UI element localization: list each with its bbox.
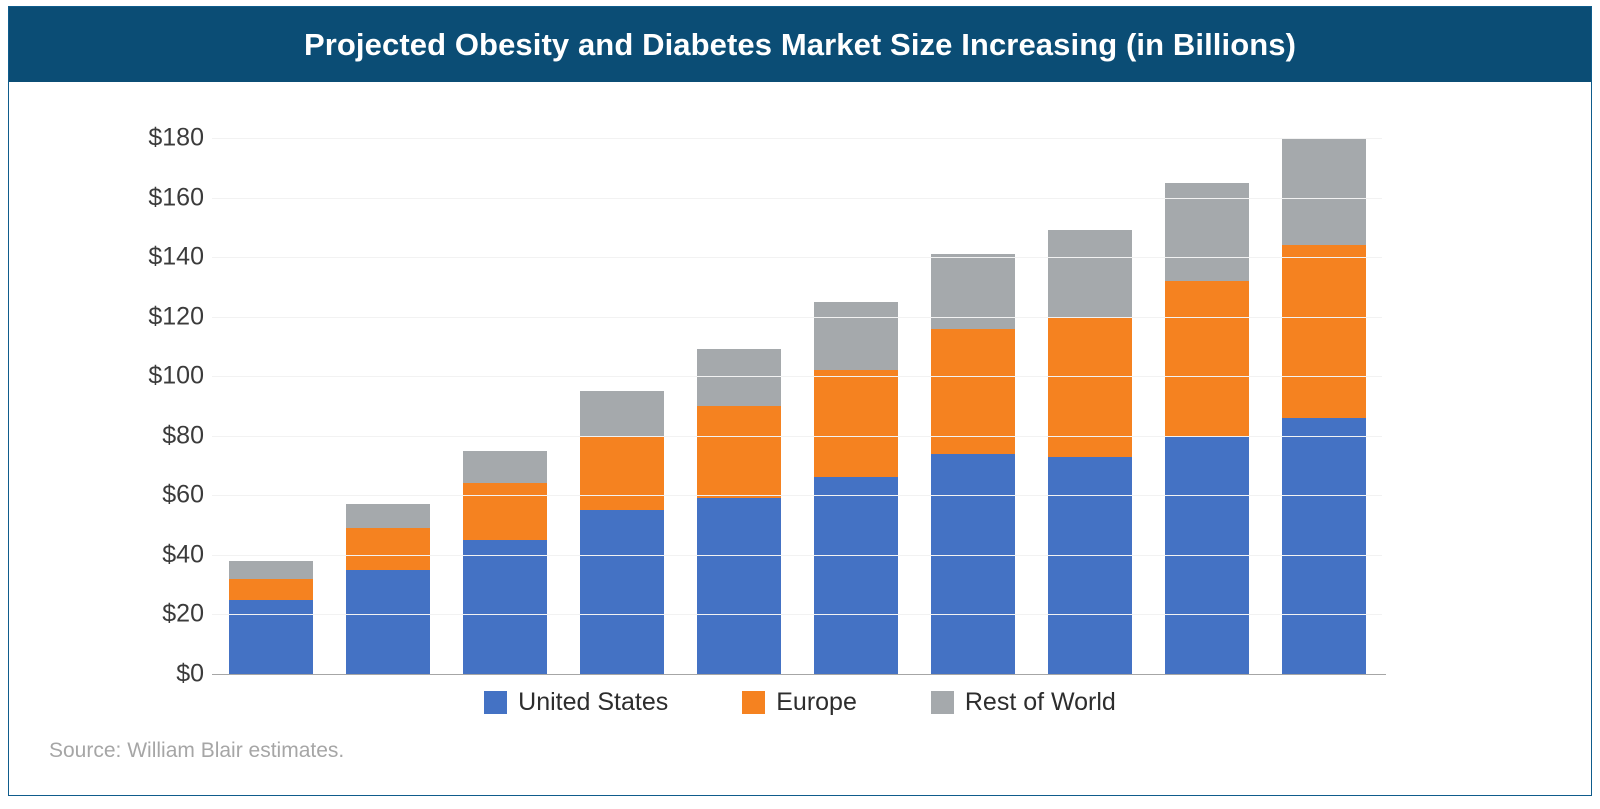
gridline [212,555,1382,556]
gridline [212,138,1382,139]
bar-segment-united-states[interactable] [697,498,781,674]
gridline [212,376,1382,377]
x-axis-line [212,674,1386,675]
legend-swatch-icon [484,691,507,714]
bar-segment-united-states[interactable] [814,477,898,674]
y-axis-tick-label: $120 [118,302,204,331]
y-axis-tick-labels: $180$160$140$120$100$80$60$40$20$0 [109,138,204,674]
y-axis-tick-label: $40 [118,540,204,569]
legend-swatch-icon [742,691,765,714]
page-title: Projected Obesity and Diabetes Market Si… [304,27,1296,63]
bar-segment-rest-of-world[interactable] [1048,230,1132,316]
bar-segment-europe[interactable] [697,406,781,498]
bar-segment-rest-of-world[interactable] [463,451,547,484]
legend-swatch-icon [931,691,954,714]
bar-segment-europe[interactable] [814,370,898,477]
bar-series-group [212,138,1382,674]
bar-column[interactable] [1165,138,1249,674]
bar-segment-europe[interactable] [580,436,664,510]
bar-segment-rest-of-world[interactable] [229,561,313,579]
legend-label: United States [518,688,668,717]
bar-segment-united-states[interactable] [580,510,664,674]
bar-column[interactable] [229,138,313,674]
legend-item[interactable]: Europe [742,688,857,717]
gridline [212,614,1382,615]
y-axis-tick-label: $0 [118,660,204,689]
legend-item[interactable]: Rest of World [931,688,1116,717]
bar-segment-europe[interactable] [229,579,313,600]
bar-segment-rest-of-world[interactable] [1282,138,1366,245]
y-axis-tick-label: $160 [118,183,204,212]
bar-column[interactable] [580,138,664,674]
legend-label: Rest of World [965,688,1116,717]
gridline [212,436,1382,437]
bar-column[interactable] [931,138,1015,674]
gridline [212,257,1382,258]
y-axis-tick-label: $140 [118,243,204,272]
chart-body: $180$160$140$120$100$80$60$40$20$0 Unite… [9,83,1591,795]
gridline [212,198,1382,199]
bar-segment-europe[interactable] [463,483,547,540]
gridline [212,317,1382,318]
y-axis-tick-label: $60 [118,481,204,510]
chart-title-banner: Projected Obesity and Diabetes Market Si… [9,7,1591,82]
bar-column[interactable] [463,138,547,674]
bar-segment-united-states[interactable] [1048,457,1132,674]
bar-segment-rest-of-world[interactable] [580,391,664,436]
bar-segment-europe[interactable] [1282,245,1366,418]
bar-column[interactable] [697,138,781,674]
chart-figure: Projected Obesity and Diabetes Market Si… [8,6,1592,796]
bar-segment-rest-of-world[interactable] [814,302,898,370]
bar-column[interactable] [346,138,430,674]
bar-segment-europe[interactable] [346,528,430,570]
bar-column[interactable] [814,138,898,674]
y-axis-tick-label: $100 [118,362,204,391]
gridline [212,495,1382,496]
bar-column[interactable] [1282,138,1366,674]
chart-legend: United StatesEuropeRest of World [9,688,1591,717]
bar-segment-united-states[interactable] [1282,418,1366,674]
plot-area [212,138,1382,674]
bar-segment-united-states[interactable] [346,570,430,674]
bar-segment-rest-of-world[interactable] [697,349,781,406]
y-axis-tick-label: $20 [118,600,204,629]
y-axis-tick-label: $180 [118,124,204,153]
bar-segment-rest-of-world[interactable] [346,504,430,528]
bar-segment-united-states[interactable] [463,540,547,674]
y-axis-tick-label: $80 [118,421,204,450]
bar-segment-united-states[interactable] [229,600,313,674]
bar-segment-united-states[interactable] [931,454,1015,674]
bar-segment-europe[interactable] [1165,281,1249,436]
legend-item[interactable]: United States [484,688,668,717]
source-note: Source: William Blair estimates. [49,739,344,763]
legend-label: Europe [776,688,857,717]
bar-column[interactable] [1048,138,1132,674]
